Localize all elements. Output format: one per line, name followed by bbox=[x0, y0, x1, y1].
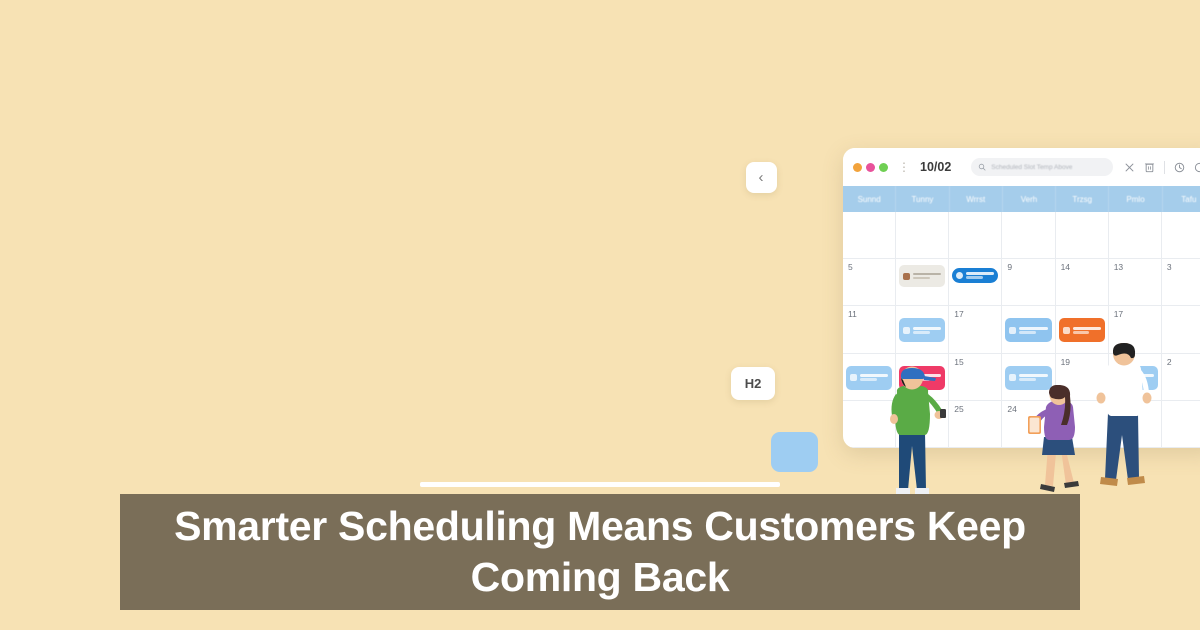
title-divider bbox=[420, 482, 780, 487]
heading-level-label: H2 bbox=[745, 376, 762, 391]
traffic-light-close[interactable] bbox=[853, 163, 862, 172]
event-label-blurred bbox=[1019, 374, 1047, 381]
calendar-cell[interactable] bbox=[949, 259, 1002, 306]
weekday-header-row: SunndTunnyWrrstVerhTrzsgPmloTafu bbox=[843, 186, 1200, 212]
weekday-header-2: Wrrst bbox=[950, 186, 1003, 212]
heading-level-tag[interactable]: H2 bbox=[731, 367, 775, 400]
calendar-cell[interactable] bbox=[843, 212, 896, 259]
event-label-blurred bbox=[913, 273, 941, 280]
calendar-event-chip[interactable] bbox=[952, 268, 998, 283]
event-icon bbox=[1009, 374, 1016, 381]
day-number: 24 bbox=[1007, 404, 1016, 414]
window-traffic-lights bbox=[853, 163, 888, 172]
event-icon bbox=[1063, 327, 1070, 334]
trash-icon[interactable] bbox=[1144, 161, 1155, 173]
traffic-light-maximize[interactable] bbox=[879, 163, 888, 172]
headline-band: Smarter Scheduling Means Customers Keep … bbox=[120, 494, 1080, 610]
weekday-header-5: Pmlo bbox=[1109, 186, 1162, 212]
search-input[interactable]: Scheduled Slot Temp Above bbox=[971, 158, 1113, 176]
clock-icon[interactable] bbox=[1174, 162, 1185, 173]
calendar-cell[interactable]: 15 bbox=[949, 354, 1002, 401]
weekday-header-4: Trzsg bbox=[1056, 186, 1109, 212]
toolbar-divider bbox=[1164, 161, 1165, 174]
calendar-cell[interactable] bbox=[896, 306, 949, 353]
calendar-cell[interactable]: 9 bbox=[1002, 259, 1055, 306]
calendar-cell[interactable] bbox=[1162, 401, 1200, 448]
calendar-cell[interactable] bbox=[1002, 306, 1055, 353]
day-number: 5 bbox=[848, 262, 853, 272]
person-green-shirt-illustration bbox=[872, 366, 952, 498]
day-number: 15 bbox=[954, 357, 963, 367]
calendar-cell[interactable] bbox=[949, 212, 1002, 259]
day-number: 2 bbox=[1167, 357, 1172, 367]
circle-icon[interactable] bbox=[1194, 162, 1200, 173]
overflow-menu-icon[interactable]: ⋮ bbox=[898, 161, 910, 173]
event-label-blurred bbox=[913, 327, 941, 334]
search-placeholder: Scheduled Slot Temp Above bbox=[991, 164, 1072, 171]
weekday-header-3: Verh bbox=[1003, 186, 1056, 212]
calendar-cell[interactable]: 5 bbox=[843, 259, 896, 306]
weekday-header-0: Sunnd bbox=[843, 186, 896, 212]
event-label-blurred bbox=[1073, 327, 1101, 334]
day-number: 17 bbox=[954, 309, 963, 319]
calendar-cell[interactable]: 3 bbox=[1162, 259, 1200, 306]
calendar-cell[interactable] bbox=[896, 212, 949, 259]
calendar-cell[interactable] bbox=[896, 259, 949, 306]
weekday-header-1: Tunny bbox=[896, 186, 949, 212]
app-titlebar: ⋮ 10/02 Scheduled Slot Temp Above bbox=[843, 148, 1200, 186]
person-purple-top-illustration bbox=[1028, 385, 1088, 500]
traffic-light-minimize[interactable] bbox=[866, 163, 875, 172]
person-white-shirt-illustration bbox=[1088, 343, 1160, 495]
chevron-left-icon: ‹ bbox=[759, 170, 764, 185]
event-icon bbox=[903, 327, 910, 334]
calendar-cell[interactable]: 11 bbox=[843, 306, 896, 353]
close-icon[interactable] bbox=[1124, 162, 1135, 173]
calendar-cell[interactable]: 25 bbox=[949, 401, 1002, 448]
event-label-blurred bbox=[1019, 327, 1047, 334]
page-title: Smarter Scheduling Means Customers Keep … bbox=[120, 501, 1080, 603]
day-number: 9 bbox=[1007, 262, 1012, 272]
event-icon bbox=[850, 374, 857, 381]
calendar-cell[interactable] bbox=[1109, 212, 1162, 259]
back-button[interactable]: ‹ bbox=[746, 162, 777, 193]
calendar-event-chip[interactable] bbox=[899, 265, 945, 287]
calendar-cell[interactable] bbox=[1162, 212, 1200, 259]
day-number: 19 bbox=[1061, 357, 1070, 367]
calendar-event-chip[interactable] bbox=[1059, 318, 1105, 342]
weekday-header-6: Tafu bbox=[1163, 186, 1200, 212]
calendar-cell[interactable] bbox=[1162, 306, 1200, 353]
poster-canvas: ⋮ 10/02 Scheduled Slot Temp Above bbox=[0, 0, 1200, 630]
calendar-cell[interactable] bbox=[1056, 212, 1109, 259]
day-number: 3 bbox=[1167, 262, 1172, 272]
day-number: 17 bbox=[1114, 309, 1123, 319]
calendar-cell[interactable] bbox=[1002, 212, 1055, 259]
calendar-event-chip[interactable] bbox=[899, 318, 945, 342]
calendar-cell[interactable]: 14 bbox=[1056, 259, 1109, 306]
day-number: 13 bbox=[1114, 262, 1123, 272]
event-icon bbox=[1009, 327, 1016, 334]
event-icon bbox=[903, 273, 910, 280]
event-label-blurred bbox=[966, 272, 994, 279]
search-icon bbox=[978, 158, 986, 176]
calendar-cell[interactable]: 17 bbox=[949, 306, 1002, 353]
current-date-label: 10/02 bbox=[920, 160, 951, 174]
calendar-cell[interactable]: 2 bbox=[1162, 354, 1200, 401]
calendar-cell[interactable]: 13 bbox=[1109, 259, 1162, 306]
day-number: 11 bbox=[848, 309, 857, 319]
event-icon bbox=[956, 272, 963, 279]
day-number: 25 bbox=[954, 404, 963, 414]
calendar-event-chip[interactable] bbox=[1005, 318, 1051, 342]
day-number: 14 bbox=[1061, 262, 1070, 272]
color-swatch[interactable] bbox=[771, 432, 818, 472]
titlebar-actions bbox=[1124, 161, 1200, 174]
